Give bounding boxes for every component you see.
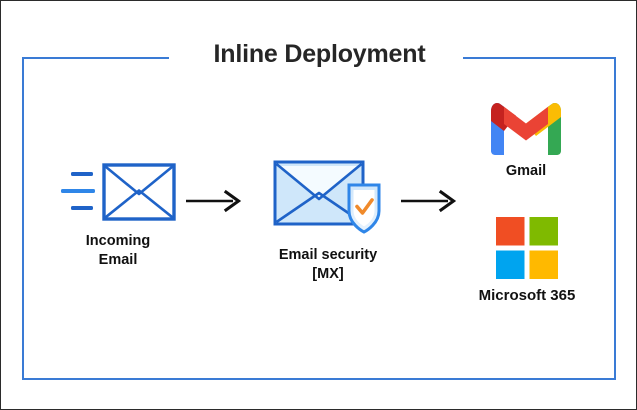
microsoft-logo-icon-box	[449, 217, 605, 279]
node-microsoft-365: Microsoft 365	[449, 217, 605, 304]
gmail-logo-icon	[491, 101, 561, 155]
node-email-security: Email security [MX]	[248, 159, 408, 283]
arrow-security-to-destinations	[400, 189, 458, 218]
incoming-envelope-icon	[59, 161, 177, 223]
page-title: Inline Deployment	[1, 40, 637, 69]
node-email-security-label: Email security [MX]	[248, 246, 408, 283]
node-gmail: Gmail	[456, 101, 596, 179]
node-incoming-email: Incoming Email	[43, 161, 193, 269]
shielded-envelope-icon	[272, 159, 384, 237]
gmail-logo-icon-box	[456, 101, 596, 155]
node-gmail-label: Gmail	[456, 163, 596, 179]
incoming-envelope-icon-box	[43, 161, 193, 223]
node-incoming-email-label: Incoming Email	[43, 232, 193, 269]
node-microsoft-365-label: Microsoft 365	[449, 287, 605, 304]
arrow-incoming-to-security	[185, 189, 243, 218]
diagram-canvas: Inline Deployment Incoming Email	[0, 0, 637, 410]
shielded-envelope-icon-box	[248, 159, 408, 237]
right-arrow-icon	[185, 189, 243, 213]
microsoft-logo-icon	[496, 217, 558, 279]
right-arrow-icon	[400, 189, 458, 213]
